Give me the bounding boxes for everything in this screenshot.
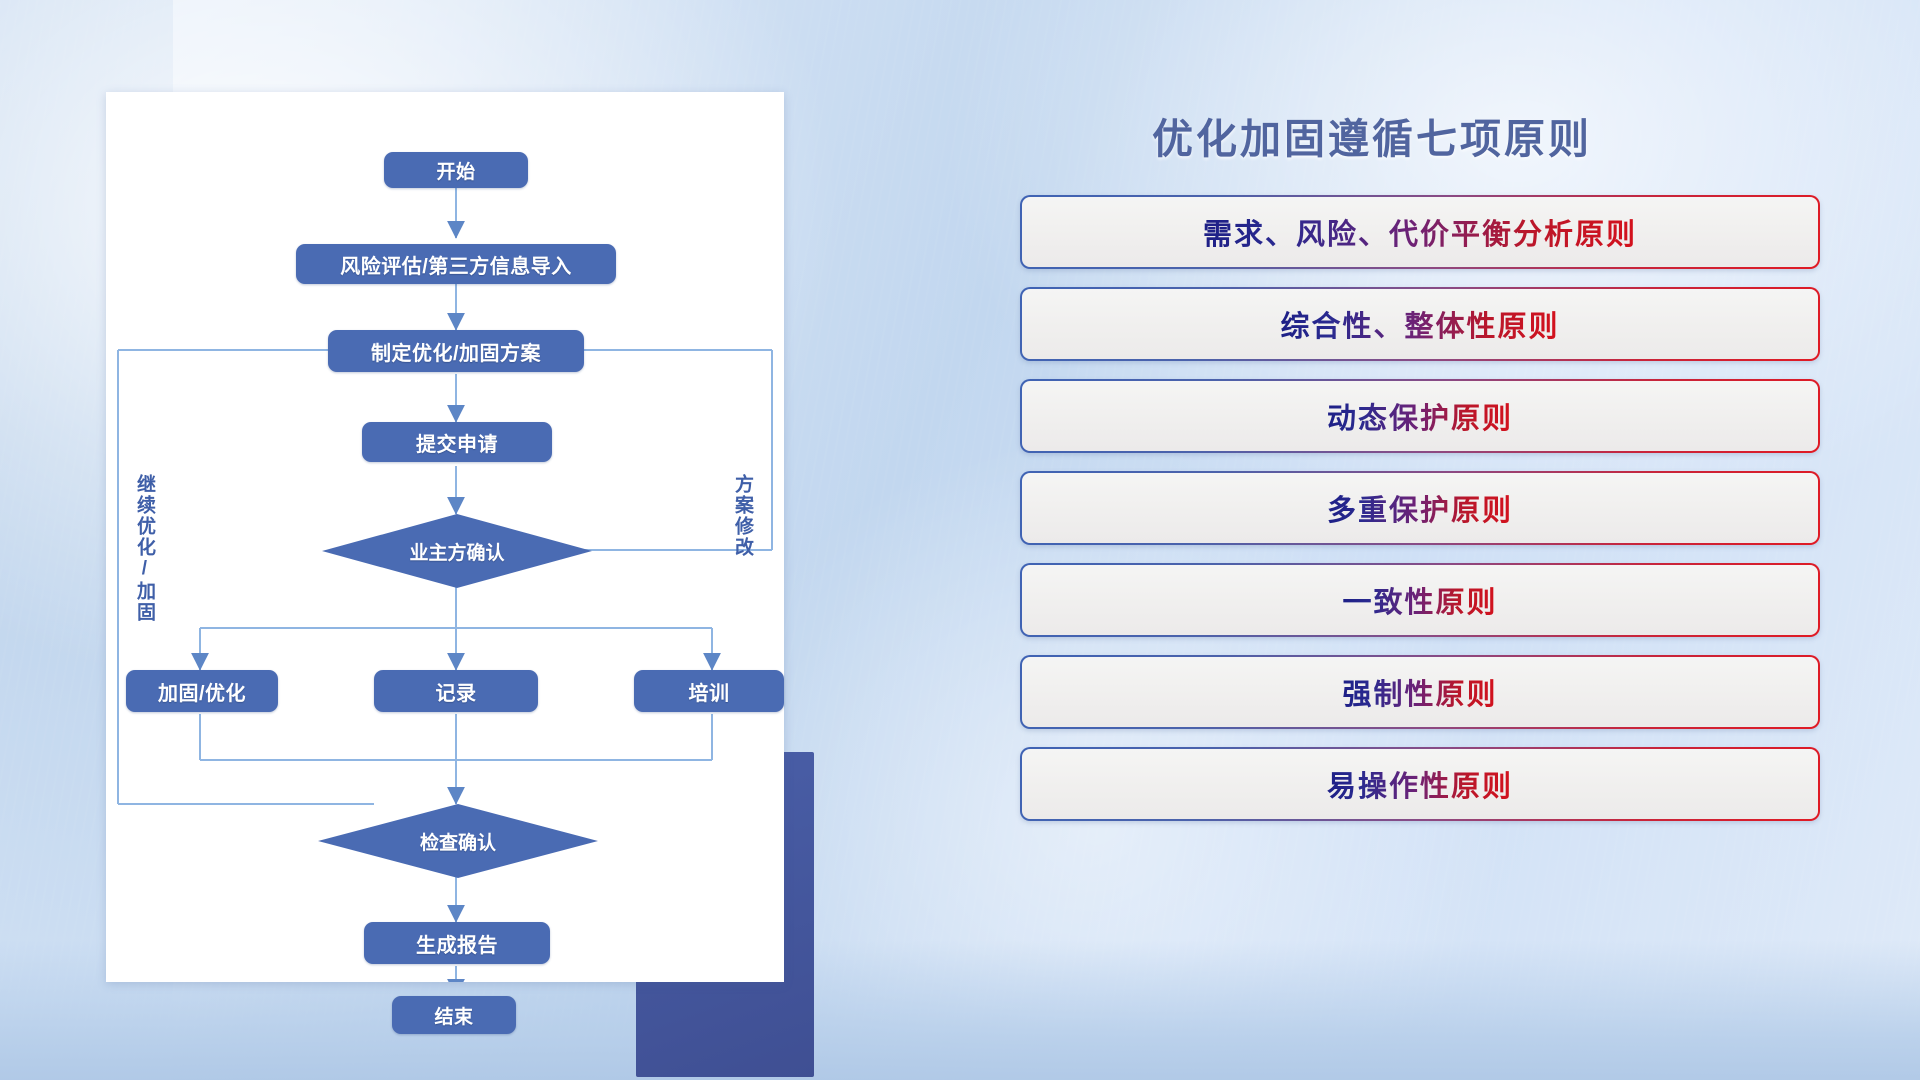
flow-node-record-label: 记录 bbox=[436, 677, 477, 706]
principle-card-body: 综合性、整体性原则 bbox=[1022, 289, 1818, 359]
flow-node-training[interactable]: 培训 bbox=[634, 670, 784, 712]
flow-node-risk-assessment-label: 风险评估/第三方信息导入 bbox=[340, 250, 572, 279]
flow-node-start[interactable]: 开始 bbox=[384, 152, 528, 188]
principles-list: 需求、风险、代价平衡分析原则综合性、整体性原则动态保护原则多重保护原则一致性原则… bbox=[1020, 195, 1820, 839]
principle-card[interactable]: 综合性、整体性原则 bbox=[1020, 287, 1820, 361]
page-title: 优化加固遵循七项原则 bbox=[1152, 105, 1592, 165]
principle-card[interactable]: 一致性原则 bbox=[1020, 563, 1820, 637]
flow-node-end-label: 结束 bbox=[434, 1002, 473, 1029]
principle-card-body: 多重保护原则 bbox=[1022, 473, 1818, 543]
flow-node-submit-application-label: 提交申请 bbox=[416, 428, 498, 457]
principle-card-body: 需求、风险、代价平衡分析原则 bbox=[1022, 197, 1818, 267]
flow-node-make-plan-label: 制定优化/加固方案 bbox=[371, 337, 541, 366]
flow-node-check-confirm[interactable]: 检查确认 bbox=[318, 804, 598, 878]
flow-edge-label-right-loop: 方案修改 bbox=[732, 474, 752, 614]
flow-node-owner-confirm-label: 业主方确认 bbox=[409, 538, 504, 565]
flow-node-training-label: 培训 bbox=[689, 677, 730, 706]
principle-card-body: 强制性原则 bbox=[1022, 657, 1818, 727]
flow-node-reinforce-label: 加固/优化 bbox=[158, 677, 246, 706]
flow-node-make-plan[interactable]: 制定优化/加固方案 bbox=[328, 330, 584, 372]
principle-card[interactable]: 多重保护原则 bbox=[1020, 471, 1820, 545]
flow-node-owner-confirm[interactable]: 业主方确认 bbox=[322, 514, 592, 588]
principle-card[interactable]: 易操作性原则 bbox=[1020, 747, 1820, 821]
principle-card-label: 综合性、整体性原则 bbox=[1280, 303, 1559, 345]
principle-card-body: 一致性原则 bbox=[1022, 565, 1818, 635]
flow-node-start-label: 开始 bbox=[436, 157, 475, 184]
principle-card-label: 动态保护原则 bbox=[1327, 395, 1513, 437]
flow-node-generate-report[interactable]: 生成报告 bbox=[364, 922, 550, 964]
principle-card-label: 多重保护原则 bbox=[1327, 487, 1513, 529]
principle-card[interactable]: 动态保护原则 bbox=[1020, 379, 1820, 453]
flowchart-panel: 开始 风险评估/第三方信息导入 制定优化/加固方案 提交申请 业主方确认 加固/… bbox=[106, 92, 796, 992]
flow-node-generate-report-label: 生成报告 bbox=[416, 929, 498, 958]
principle-card-label: 一致性原则 bbox=[1342, 579, 1497, 621]
flow-node-risk-assessment[interactable]: 风险评估/第三方信息导入 bbox=[296, 244, 616, 284]
principle-card[interactable]: 强制性原则 bbox=[1020, 655, 1820, 729]
flow-node-submit-application[interactable]: 提交申请 bbox=[362, 422, 552, 462]
principle-card-label: 需求、风险、代价平衡分析原则 bbox=[1203, 211, 1637, 253]
flow-edge-label-left-loop: 继续优化/加固 bbox=[134, 474, 154, 654]
principle-card-label: 强制性原则 bbox=[1342, 671, 1497, 713]
principle-card-body: 动态保护原则 bbox=[1022, 381, 1818, 451]
flow-node-end[interactable]: 结束 bbox=[392, 996, 516, 1034]
principle-card-body: 易操作性原则 bbox=[1022, 749, 1818, 819]
flow-node-reinforce[interactable]: 加固/优化 bbox=[126, 670, 278, 712]
principle-card[interactable]: 需求、风险、代价平衡分析原则 bbox=[1020, 195, 1820, 269]
principles-panel: 优化加固遵循七项原则 需求、风险、代价平衡分析原则综合性、整体性原则动态保护原则… bbox=[1020, 80, 1850, 1010]
principle-card-label: 易操作性原则 bbox=[1327, 763, 1513, 805]
flow-node-check-confirm-label: 检查确认 bbox=[420, 828, 496, 855]
flow-node-record[interactable]: 记录 bbox=[374, 670, 538, 712]
